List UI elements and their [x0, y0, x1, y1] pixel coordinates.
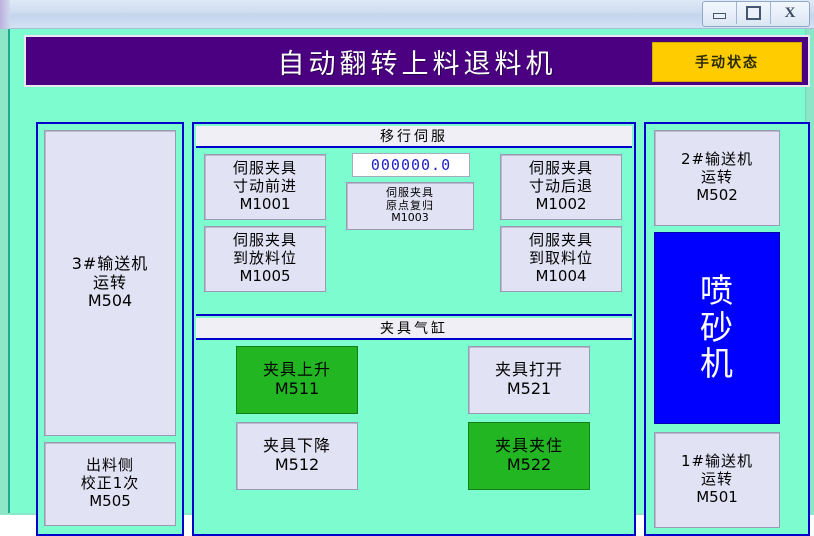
right-panel: 2#输送机 运转 M502 喷 砂 机 1#输送机 运转 M501	[644, 122, 810, 536]
section-header-clamp-cylinder: 夹具气缸	[196, 318, 632, 340]
servo-clamp-jog-backward-button[interactable]: 伺服夹具 寸动后退 M1002	[500, 154, 622, 220]
section-header-traverse-servo: 移行伺服	[196, 126, 632, 148]
conveyor-2-run-button[interactable]: 2#输送机 运转 M502	[654, 130, 780, 226]
servo-clamp-to-pickup-pos-button[interactable]: 伺服夹具 到取料位 M1004	[500, 226, 622, 292]
servo-clamp-jog-forward-button[interactable]: 伺服夹具 寸动前进 M1001	[204, 154, 326, 220]
maximize-icon	[746, 6, 761, 20]
servo-position-display[interactable]: 000000.0	[352, 153, 470, 177]
clamp-open-button[interactable]: 夹具打开 M521	[468, 346, 590, 414]
minimize-button[interactable]	[703, 2, 737, 24]
hmi-application: X 自动翻转上料退料机 手动状态 3#输送机 运转 M504 出料侧 校正1次	[0, 0, 814, 515]
minimize-icon	[713, 13, 726, 19]
sandblast-machine-indicator[interactable]: 喷 砂 机	[654, 232, 780, 424]
discharge-side-correct-button[interactable]: 出料侧 校正1次 M505	[44, 442, 176, 526]
center-panel: 移行伺服 伺服夹具 寸动前进 M1001 伺服夹具 到放料位 M1005 伺服夹…	[192, 122, 636, 536]
page-header: 自动翻转上料退料机 手动状态	[24, 35, 810, 87]
window-controls: X	[702, 1, 810, 27]
close-icon: X	[785, 6, 796, 21]
maximize-button[interactable]	[737, 2, 771, 24]
clamp-close-button[interactable]: 夹具夹住 M522	[468, 422, 590, 490]
hmi-screen: 自动翻转上料退料机 手动状态 3#输送机 运转 M504 出料侧 校正1次 M5…	[0, 29, 814, 515]
clamp-lower-button[interactable]: 夹具下降 M512	[236, 422, 358, 490]
window-titlebar: X	[0, 0, 814, 29]
section-divider	[196, 314, 632, 316]
conveyor-1-run-button[interactable]: 1#输送机 运转 M501	[654, 432, 780, 528]
servo-clamp-to-unload-pos-button[interactable]: 伺服夹具 到放料位 M1005	[204, 226, 326, 292]
close-button[interactable]: X	[771, 2, 809, 24]
status-badge[interactable]: 手动状态	[652, 42, 802, 82]
conveyor-3-run-button[interactable]: 3#输送机 运转 M504	[44, 130, 176, 436]
servo-clamp-home-return-button[interactable]: 伺服夹具 原点复归 M1003	[346, 182, 474, 230]
hmi-screen-inner: 自动翻转上料退料机 手动状态 3#输送机 运转 M504 出料侧 校正1次 M5…	[8, 29, 806, 513]
left-panel: 3#输送机 运转 M504 出料侧 校正1次 M505	[36, 122, 184, 536]
clamp-raise-button[interactable]: 夹具上升 M511	[236, 346, 358, 414]
titlebar-glow	[0, 0, 10, 29]
